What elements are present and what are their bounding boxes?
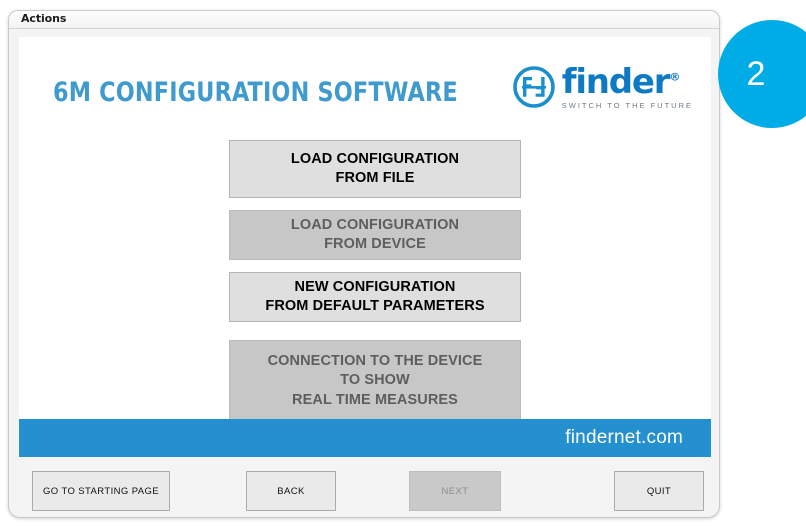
registered-trademark-icon: ® (669, 71, 680, 84)
brand-wordmark: finder® (562, 65, 681, 99)
findernet-url-label: findernet.com (565, 427, 683, 449)
button-label-lines: NEW CONFIGURATION FROM DEFAULT PARAMETER… (265, 278, 484, 317)
finder-circle-logo-icon (513, 66, 555, 108)
finder-brand-logo: finder® SWITCH TO THE FUTURE (513, 65, 693, 110)
button-label-line-1: LOAD CONFIGURATION (291, 216, 459, 235)
quit-button[interactable]: QUIT (614, 471, 704, 511)
content-panel: 6M CONFIGURATION SOFTWARE finder® SWITCH… (19, 37, 711, 429)
button-label-line-2: FROM FILE (291, 169, 459, 188)
back-label: BACK (277, 486, 304, 497)
new-configuration-from-default-parameters-button[interactable]: NEW CONFIGURATION FROM DEFAULT PARAMETER… (229, 272, 521, 322)
load-configuration-from-file-button[interactable]: LOAD CONFIGURATION FROM FILE (229, 140, 521, 198)
step-number-badge: 2 (718, 20, 806, 128)
action-button-stack: LOAD CONFIGURATION FROM FILE LOAD CONFIG… (229, 140, 521, 422)
button-label-line-2: FROM DEVICE (291, 235, 459, 254)
connection-to-device-real-time-measures-button[interactable]: CONNECTION TO THE DEVICE TO SHOW REAL TI… (229, 340, 521, 422)
bottom-navigation-bar: GO TO STARTING PAGE BACK NEXT QUIT (9, 463, 719, 519)
button-label-lines: CONNECTION TO THE DEVICE TO SHOW REAL TI… (268, 352, 483, 410)
button-label-line-2: TO SHOW (268, 371, 483, 390)
next-label: NEXT (442, 486, 469, 497)
step-number-label: 2 (747, 55, 766, 94)
brand-wordmark-text: finder (562, 62, 670, 102)
button-label-line-3: REAL TIME MEASURES (268, 391, 483, 410)
window-title-label: Actions (21, 12, 66, 25)
go-to-starting-page-button[interactable]: GO TO STARTING PAGE (32, 471, 170, 511)
page-title: 6M CONFIGURATION SOFTWARE (53, 77, 458, 108)
button-label-line-1: LOAD CONFIGURATION (291, 150, 459, 169)
button-label-line-2: FROM DEFAULT PARAMETERS (265, 297, 484, 316)
load-configuration-from-device-button[interactable]: LOAD CONFIGURATION FROM DEVICE (229, 210, 521, 260)
quit-label: QUIT (647, 486, 671, 497)
brand-tagline: SWITCH TO THE FUTURE (562, 102, 693, 110)
go-to-starting-page-label: GO TO STARTING PAGE (43, 486, 159, 497)
button-label-line-1: NEW CONFIGURATION (265, 278, 484, 297)
next-button[interactable]: NEXT (409, 471, 501, 511)
application-window: Actions 6M CONFIGURATION SOFTWARE finder… (8, 10, 720, 518)
window-title-bar: Actions (9, 11, 719, 29)
footer-band: findernet.com (19, 419, 711, 457)
button-label-line-1: CONNECTION TO THE DEVICE (268, 352, 483, 371)
button-label-lines: LOAD CONFIGURATION FROM DEVICE (291, 216, 459, 255)
brand-text-block: finder® SWITCH TO THE FUTURE (562, 65, 693, 110)
button-label-lines: LOAD CONFIGURATION FROM FILE (291, 150, 459, 189)
back-button[interactable]: BACK (246, 471, 336, 511)
